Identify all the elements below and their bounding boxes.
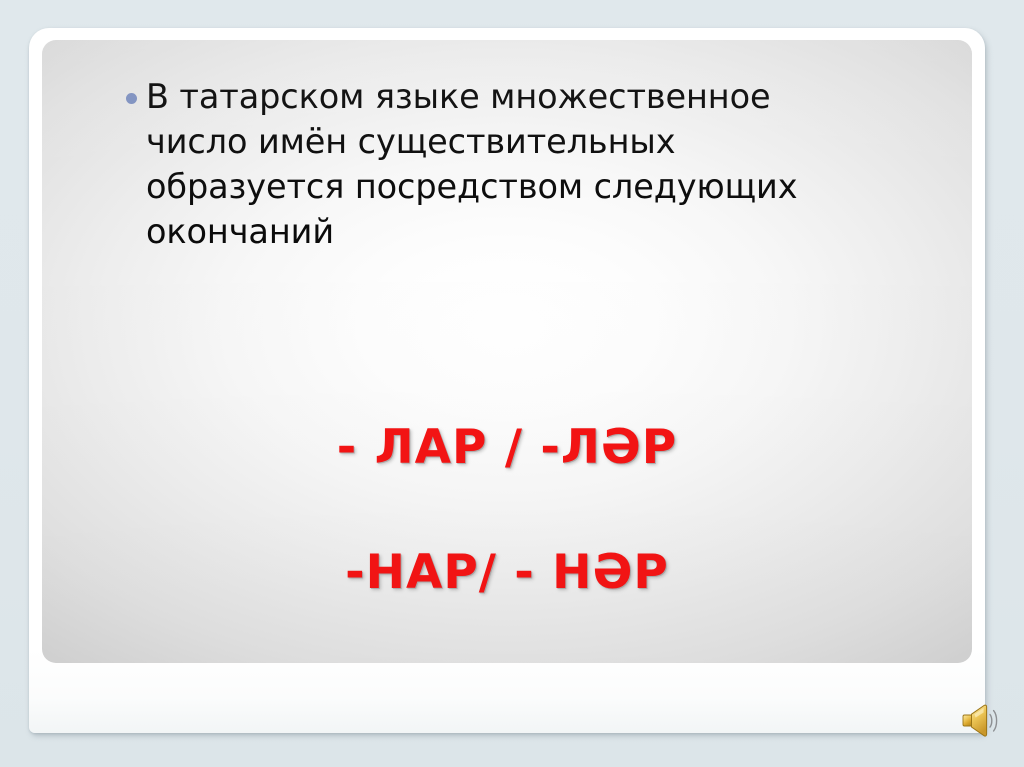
slide-frame: В татарском языке множественное число им… bbox=[29, 28, 985, 733]
body-text-block: В татарском языке множественное число им… bbox=[84, 74, 904, 254]
bullet-item-label: В татарском языке множественное число им… bbox=[146, 74, 904, 254]
ending-suffix-lar-lar: - ЛАР / -ЛӘР bbox=[42, 420, 972, 475]
ending-suffix-nar-nar: -НАР/ - НӘР bbox=[42, 545, 972, 600]
speaker-icon[interactable] bbox=[958, 700, 1002, 742]
list-item: В татарском языке множественное число им… bbox=[84, 74, 904, 254]
round-bullet-icon bbox=[126, 93, 137, 104]
slide-content-surface: В татарском языке множественное число им… bbox=[42, 40, 972, 663]
